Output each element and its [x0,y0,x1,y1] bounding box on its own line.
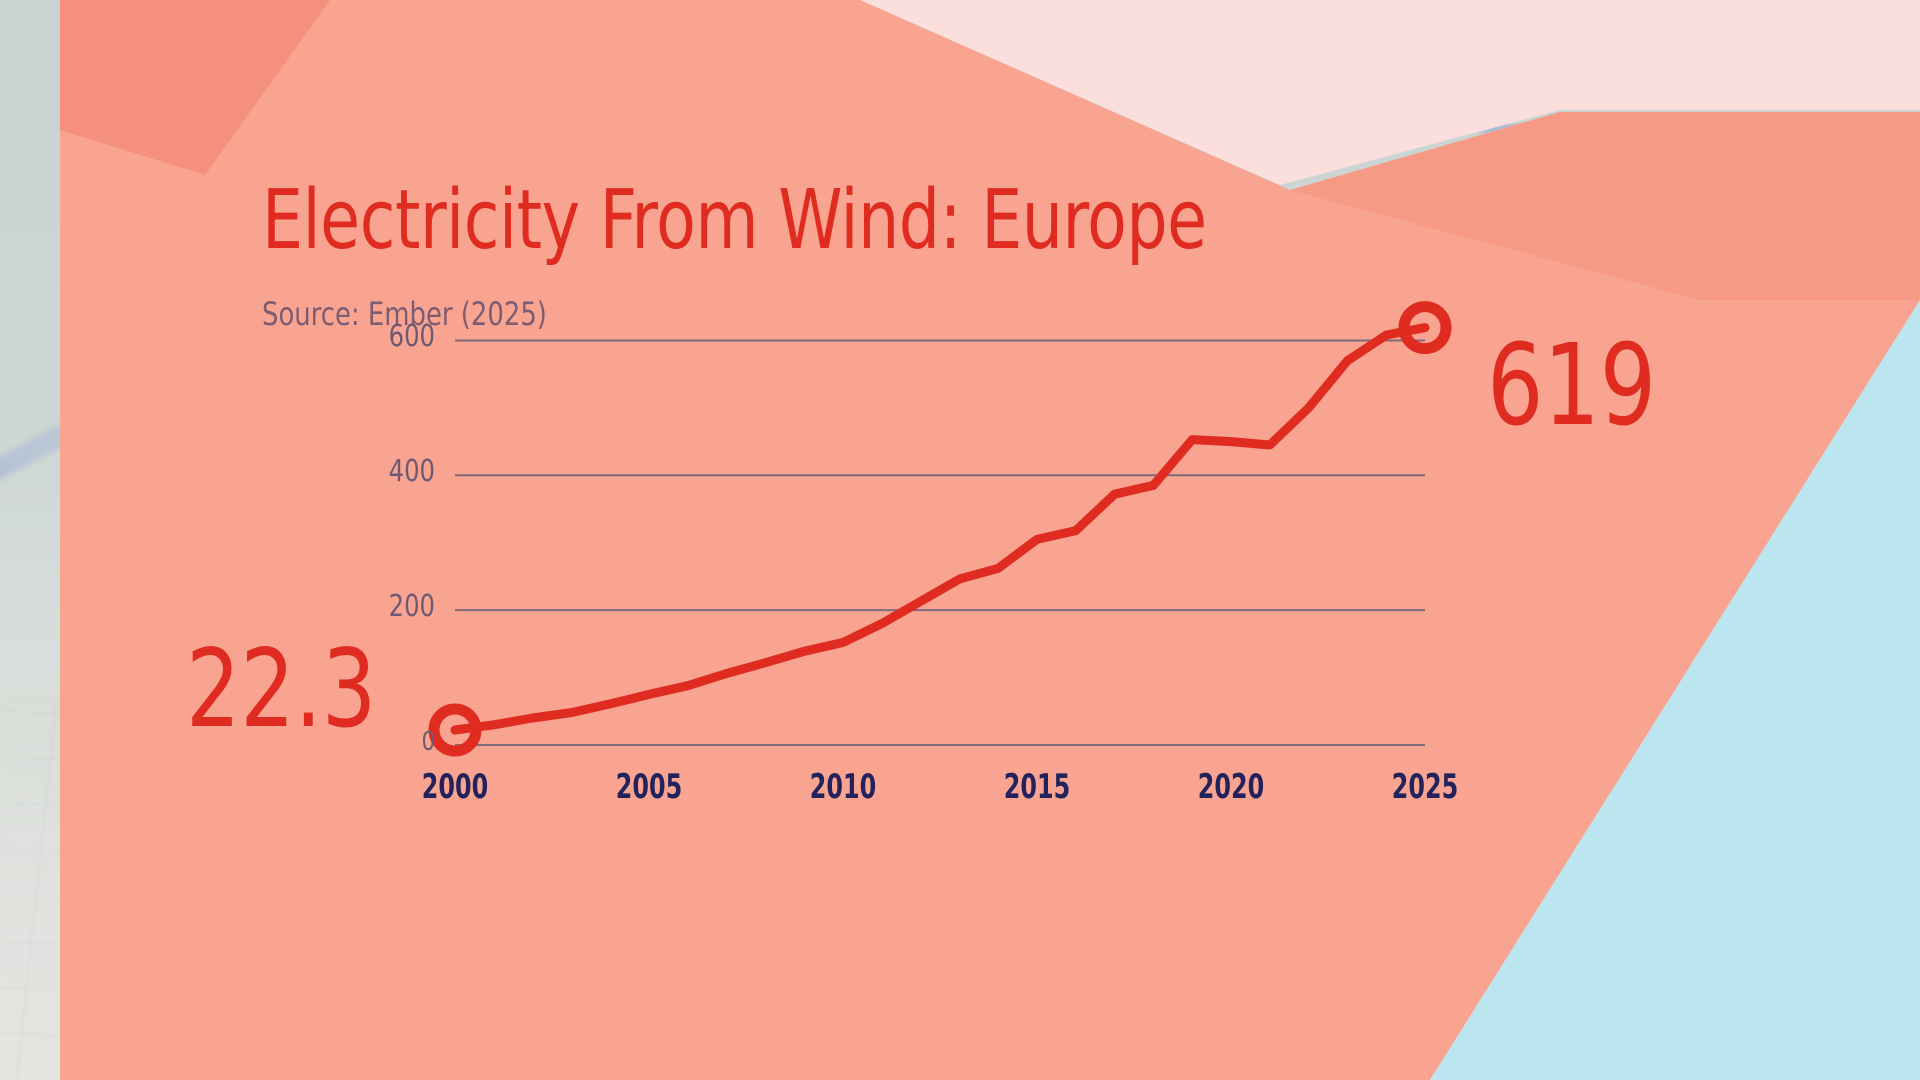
chart-line-series [455,328,1425,730]
start-value-annotation: 22.3 [186,636,376,744]
x-axis-tick-label: 2010 [788,767,897,807]
chart-root: Electricity From Wind: Europe Source: Em… [0,0,1920,1080]
chart-plot-area [0,0,1920,1080]
y-axis-tick-label: 200 [336,589,435,624]
x-axis-tick-label: 2020 [1176,767,1285,807]
x-axis-tick-label: 2005 [594,767,703,807]
chart-gridlines [455,340,1425,745]
end-value-annotation: 619 [1487,330,1656,442]
x-axis-tick-label: 2015 [982,767,1091,807]
x-axis-tick-label: 2025 [1370,767,1479,807]
x-axis-tick-label: 2000 [400,767,509,807]
chart-endpoint-markers [434,307,1446,751]
y-axis-tick-label: 600 [336,319,435,354]
y-axis-tick-label: 400 [336,454,435,489]
